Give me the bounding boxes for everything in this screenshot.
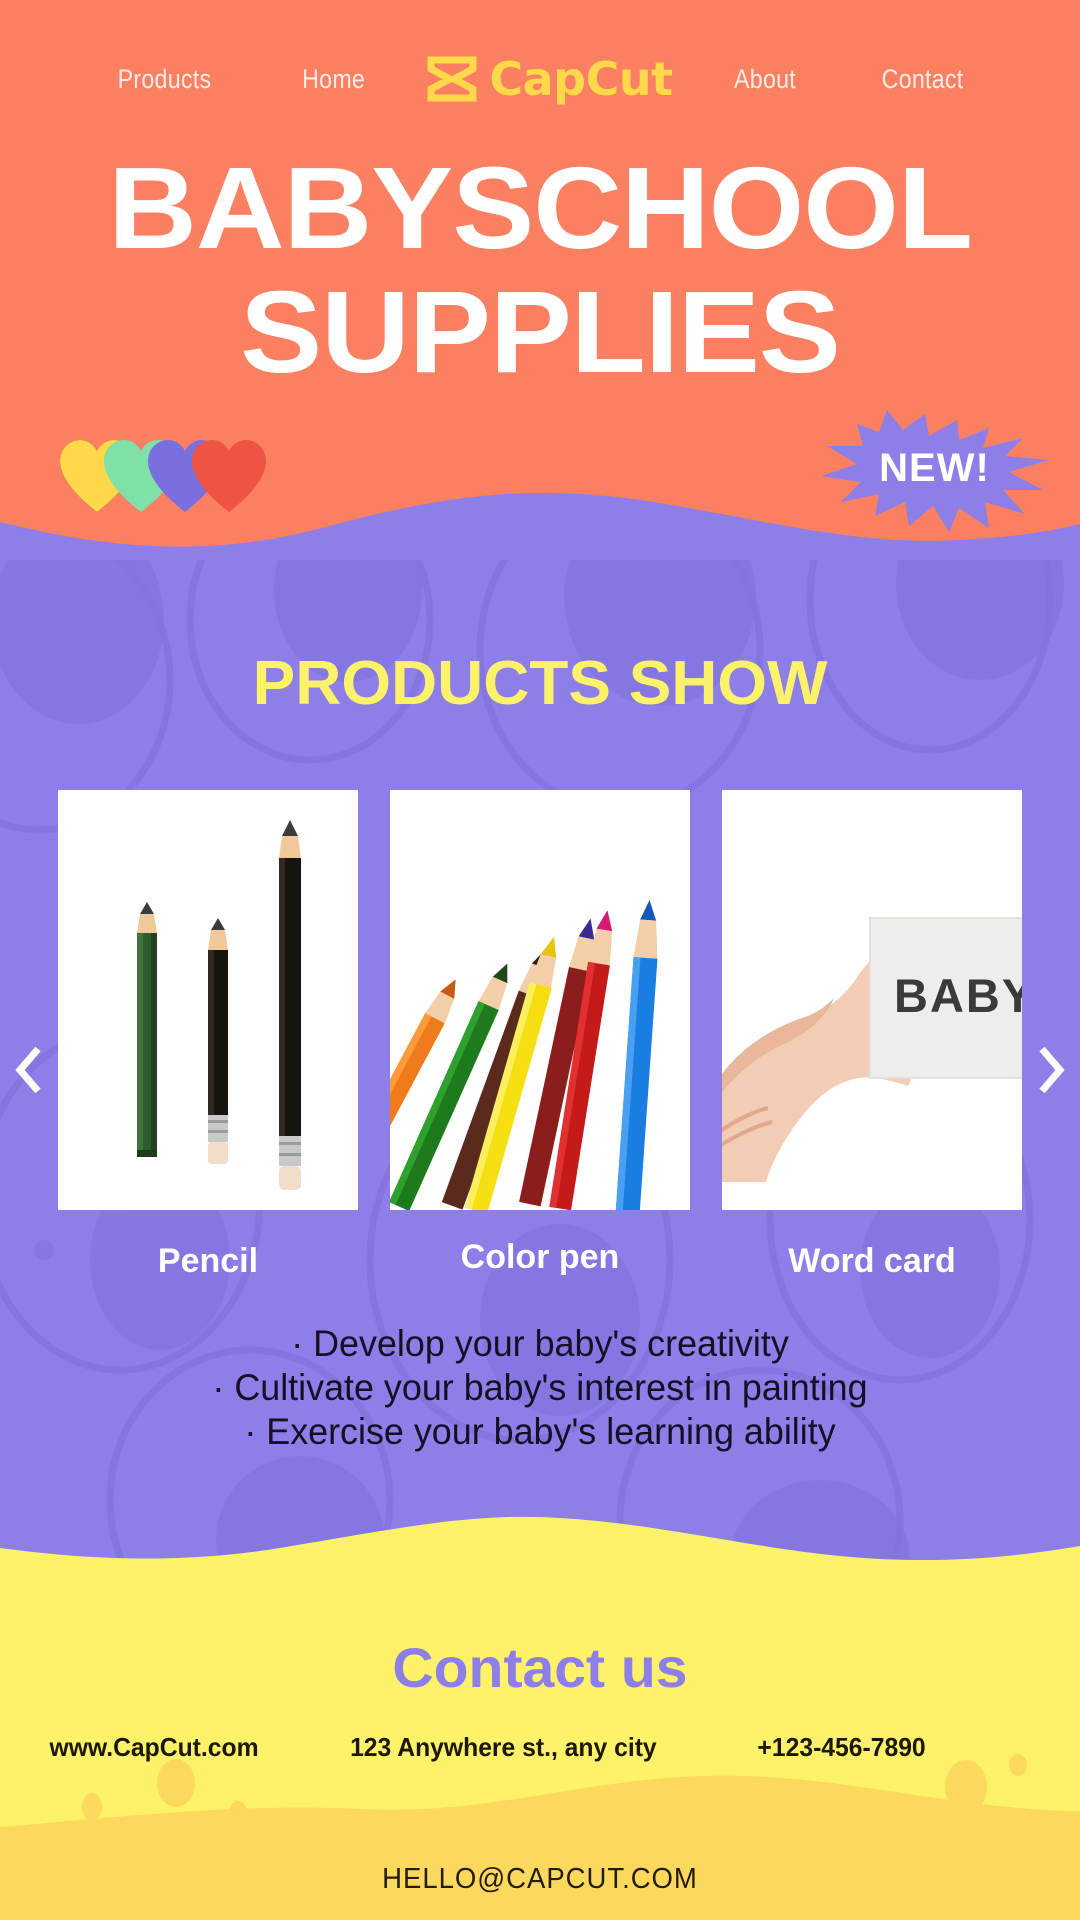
nav-item-home[interactable]: Home [297,64,370,95]
contact-section: Contact us www.CapCut.com 123 Anywhere s… [0,1560,1080,1920]
carousel-prev-button[interactable] [6,1038,52,1102]
heart-red [192,440,266,512]
benefit-item-2: · Cultivate your baby's interest in pain… [16,1366,1064,1410]
pencil-black-tall [279,820,301,1190]
contact-details-row: www.CapCut.com 123 Anywhere st., any cit… [0,1732,1080,1763]
contact-website[interactable]: www.CapCut.com [50,1732,259,1763]
hand-holding-baby-word-card-photo: BABY [722,790,1022,1210]
new-badge: NEW! [817,402,1052,534]
contact-address: 123 Anywhere st., any city [350,1732,657,1763]
bubble-dot [229,1801,247,1825]
contact-phone[interactable]: +123-456-7890 [757,1732,925,1763]
carousel-next-button[interactable] [1028,1038,1074,1102]
benefit-item-1: · Develop your baby's creativity [16,1322,1064,1366]
new-badge-label: NEW! [817,402,1052,534]
main-navigation: Products Home CapCut About Contact [0,48,1080,110]
bubble-dot [82,1793,102,1821]
chevron-left-icon [14,1045,44,1095]
contact-email[interactable]: HELLO@CAPCUT.COM [27,1863,1053,1896]
capcut-logo-icon [426,56,478,102]
poster-page: Products Home CapCut About Contact BABYS… [0,0,1080,1920]
headline-line-2: SUPPLIES [0,276,1080,390]
chevron-right-icon [1036,1045,1066,1095]
nav-item-products[interactable]: Products [113,64,217,95]
pencil-black-medium [208,918,228,1164]
benefit-item-3: · Exercise your baby's learning ability [16,1410,1064,1454]
brand-name: CapCut [489,52,672,106]
products-section: PRODUCTS SHOW [0,560,1080,1600]
benefits-list: · Develop your baby's creativity · Culti… [0,1322,1080,1454]
bubble-dot [157,1759,195,1807]
nav-item-contact[interactable]: Contact [876,64,968,95]
page-title: BABYSCHOOL SUPPLIES [0,152,1080,389]
heart-decoration-group [58,438,288,518]
product-card-pencil[interactable] [58,790,358,1210]
bubble-dot [945,1760,987,1814]
pencil-green [137,902,157,1157]
colored-pencils-fan-photo [390,790,690,1210]
three-pencils-photo [58,790,358,1210]
word-card-graphic: BABY [870,918,1022,1078]
headline-line-1: BABYSCHOOL [0,152,1080,266]
product-card-word-card[interactable]: BABY [722,790,1022,1210]
capcut-brand-logo[interactable]: CapCut [426,52,672,106]
word-card-text: BABY [894,969,1022,1022]
nav-item-about[interactable]: About [728,64,800,95]
product-card-color-pen[interactable] [390,790,690,1210]
contact-heading: Contact us [0,1635,1080,1700]
hero-section: Products Home CapCut About Contact BABYS… [0,0,1080,600]
